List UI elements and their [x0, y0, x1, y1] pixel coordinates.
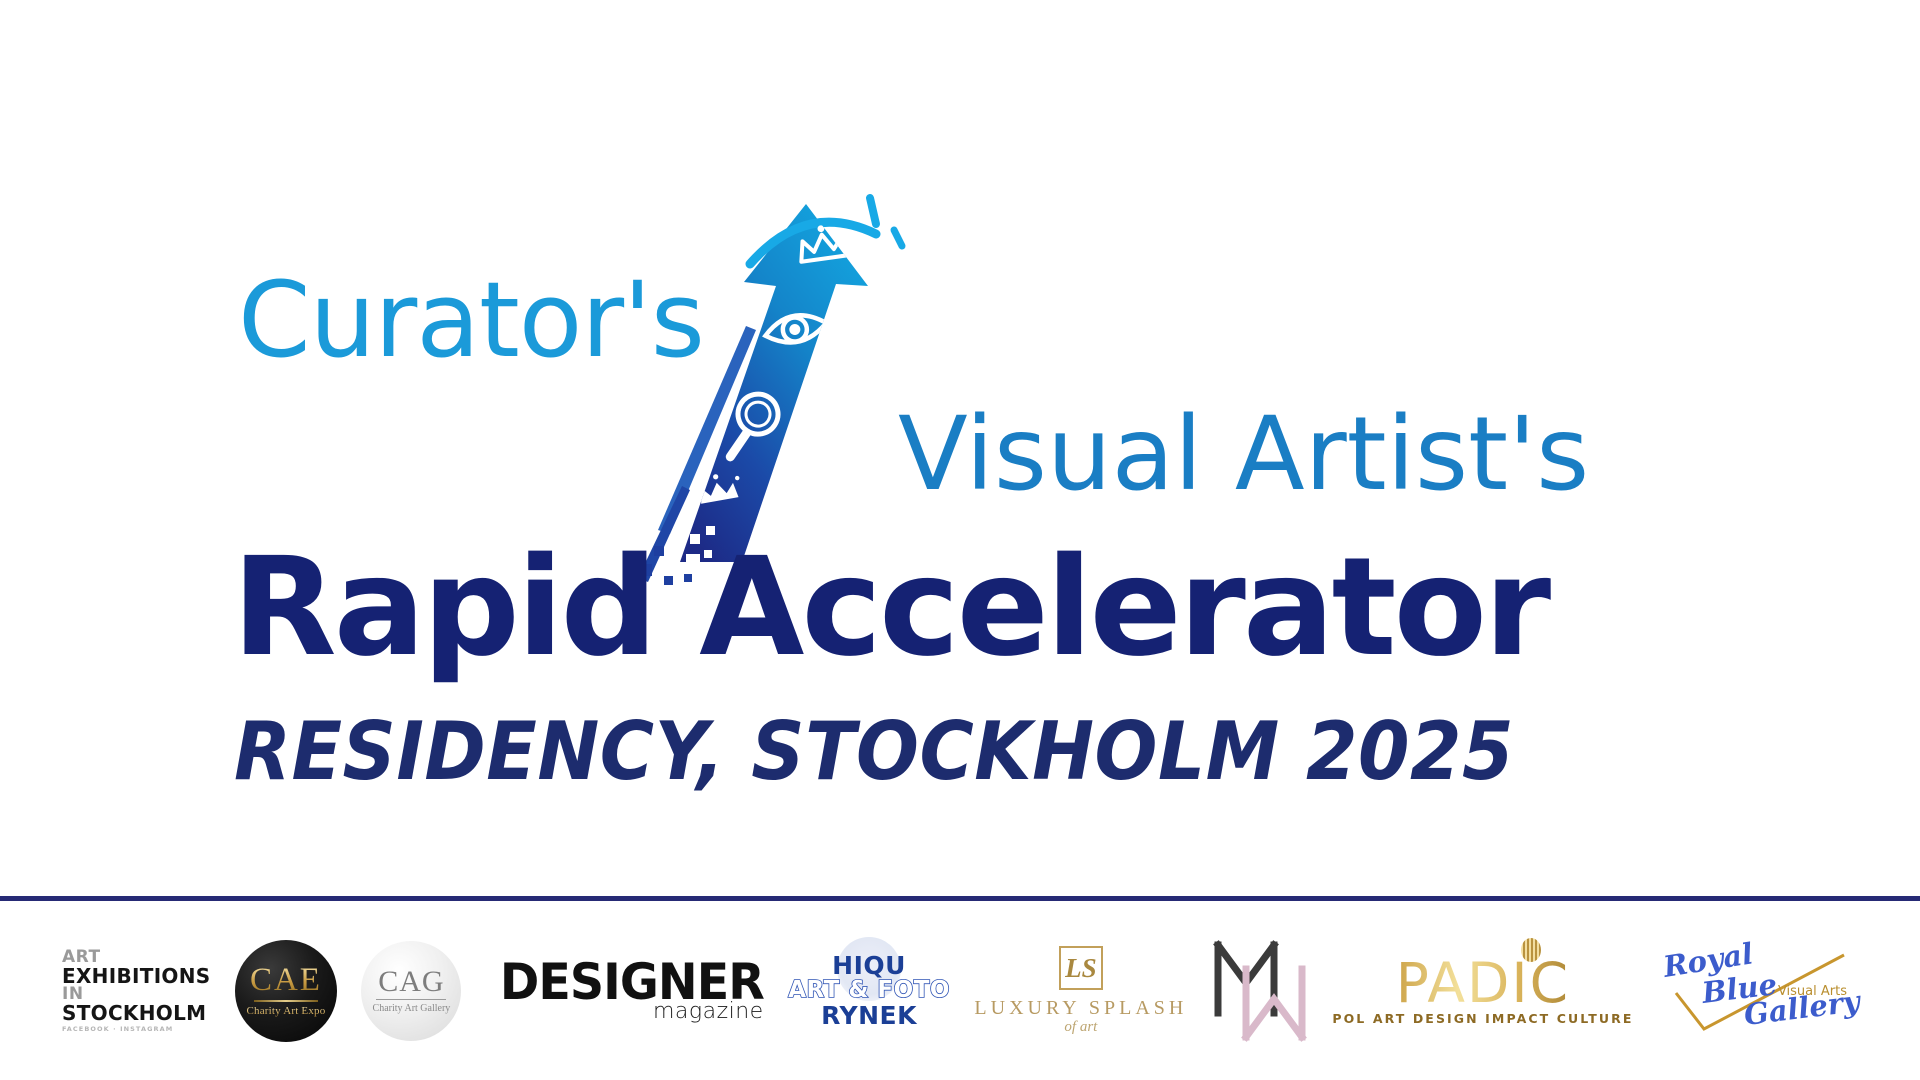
tip-tick-1: [870, 198, 876, 224]
poster-canvas: Curator's: [0, 0, 1920, 1080]
headline-line-visual-artists: Visual Artist's: [898, 404, 1589, 506]
headline-line-residency: RESIDENCY, STOCKHOLM 2025: [234, 712, 1514, 792]
headline-line-rapid-accelerator: Rapid Accelerator: [232, 540, 1548, 676]
sponsor-logo-charity-art-expo[interactable]: CAE Charity Art Expo: [235, 931, 337, 1051]
sponsor-logo-bar: ART EXHIBITIONS IN STOCKHOLM FACEBOOK · …: [0, 901, 1920, 1080]
padic-subtitle: POL ART DESIGN IMPACT CULTURE: [1332, 1013, 1633, 1026]
sponsor-logo-designer-magazine[interactable]: DESIGNER magazine: [486, 931, 764, 1051]
padic-orb-icon: [1521, 938, 1541, 962]
cag-monogram: CAG: [378, 967, 444, 997]
lsa-subtitle: of art: [974, 1020, 1187, 1035]
hiqu-line-1: HIQU: [788, 953, 950, 978]
padic-wordmark: PADIC: [1332, 956, 1633, 1011]
cae-rule: [254, 1000, 318, 1002]
sponsor-logo-charity-art-gallery[interactable]: CAG Charity Art Gallery: [361, 931, 461, 1051]
designer-wordmark: DESIGNER: [500, 959, 764, 1005]
hiqu-line-3: RYNEK: [788, 1003, 950, 1028]
sponsor-logo-mw-monogram[interactable]: [1212, 931, 1308, 1051]
rbg-tagline: Visual Arts: [1778, 985, 1847, 998]
cae-monogram: CAE: [250, 964, 322, 997]
cag-rule: [376, 999, 446, 1000]
lsa-monogram-frame: LS: [1059, 946, 1103, 990]
cag-subtitle: Charity Art Gallery: [373, 1004, 451, 1014]
lsa-wordmark: LUXURY SPLASH: [974, 998, 1187, 1018]
hiqu-line-2: ART & FOTO: [788, 979, 950, 1002]
sponsor-logo-luxury-splash-of-art[interactable]: LS LUXURY SPLASH of art: [974, 931, 1187, 1051]
mw-monogram-icon: [1212, 939, 1308, 1043]
aes-line-2: EXHIBITIONS: [62, 966, 210, 986]
sponsor-logo-art-exhibitions-in-stockholm[interactable]: ART EXHIBITIONS IN STOCKHOLM FACEBOOK · …: [62, 931, 210, 1051]
sponsor-logo-royal-blue-gallery[interactable]: Royal Blue Gallery Visual Arts: [1658, 931, 1858, 1051]
aes-social-line: FACEBOOK · INSTAGRAM: [62, 1026, 210, 1033]
sponsor-logo-hiqu-art-foto-rynek[interactable]: HIQU ART & FOTO RYNEK: [788, 931, 950, 1051]
cae-subtitle: Charity Art Expo: [246, 1006, 325, 1017]
lsa-monogram: LS: [1065, 955, 1097, 982]
aes-line-4: STOCKHOLM: [62, 1003, 210, 1023]
sponsor-logo-padic[interactable]: PADIC POL ART DESIGN IMPACT CULTURE: [1332, 931, 1633, 1051]
tip-tick-2: [894, 230, 902, 246]
hero-logo-lockup: Curator's: [0, 0, 1920, 898]
